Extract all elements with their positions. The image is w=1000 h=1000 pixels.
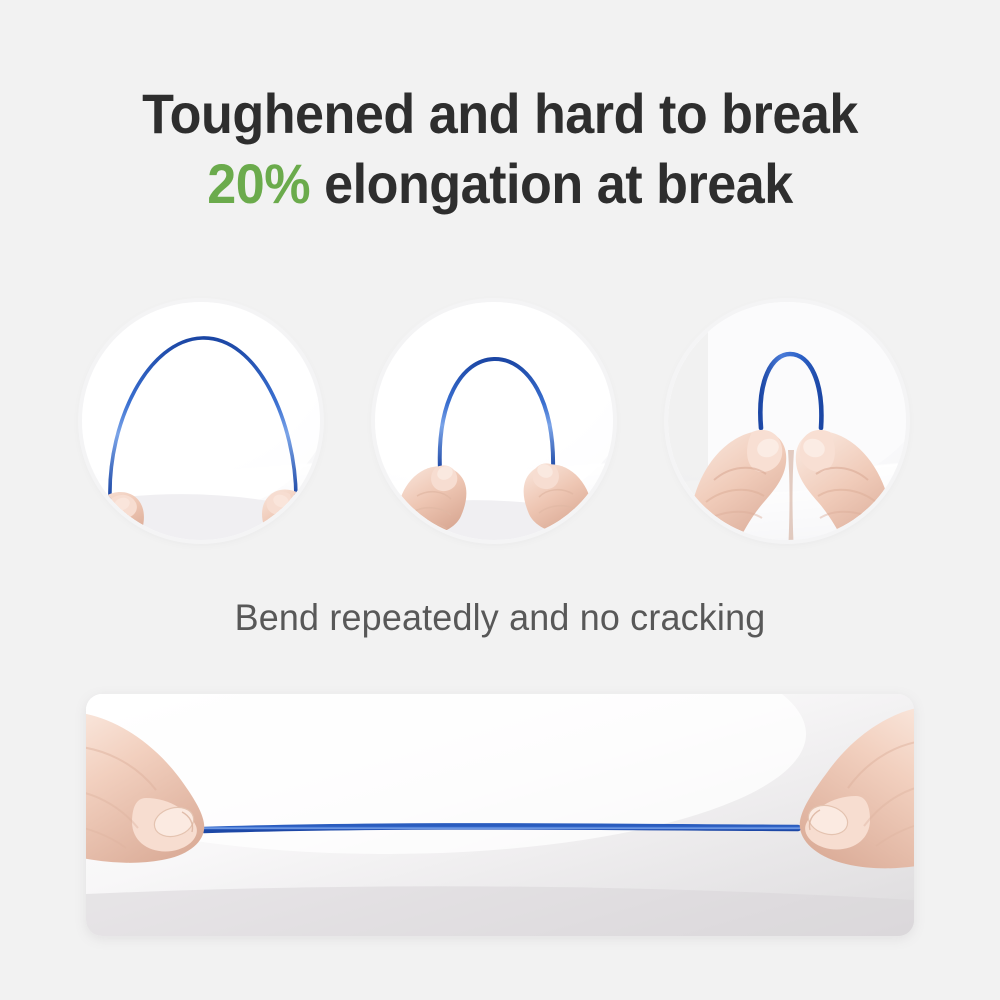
wide-arc-illustration — [82, 302, 320, 540]
headline-line-2: 20% elongation at break — [35, 156, 965, 212]
elongation-percent-highlight: 20% — [207, 152, 310, 215]
headline-line-2-rest: elongation at break — [310, 152, 793, 215]
headline-block: Toughened and hard to break 20% elongati… — [0, 86, 1000, 212]
left-hand-wide — [85, 492, 144, 540]
right-hand-wide — [262, 490, 319, 540]
headline-line-1: Toughened and hard to break — [35, 86, 965, 142]
bend-caption: Bend repeatedly and no cracking — [15, 597, 985, 639]
straight-filament-panel — [86, 694, 914, 936]
bend-photo-wide-arc — [82, 302, 320, 540]
tight-arc-illustration — [668, 302, 906, 540]
bend-sequence-row — [0, 302, 1000, 550]
promo-stage: Toughened and hard to break 20% elongati… — [0, 0, 1000, 1000]
medium-arc-illustration — [375, 302, 613, 540]
bend-photo-medium-arc — [375, 302, 613, 540]
bend-photo-tight-arc — [668, 302, 906, 540]
straight-filament-illustration — [86, 694, 914, 936]
